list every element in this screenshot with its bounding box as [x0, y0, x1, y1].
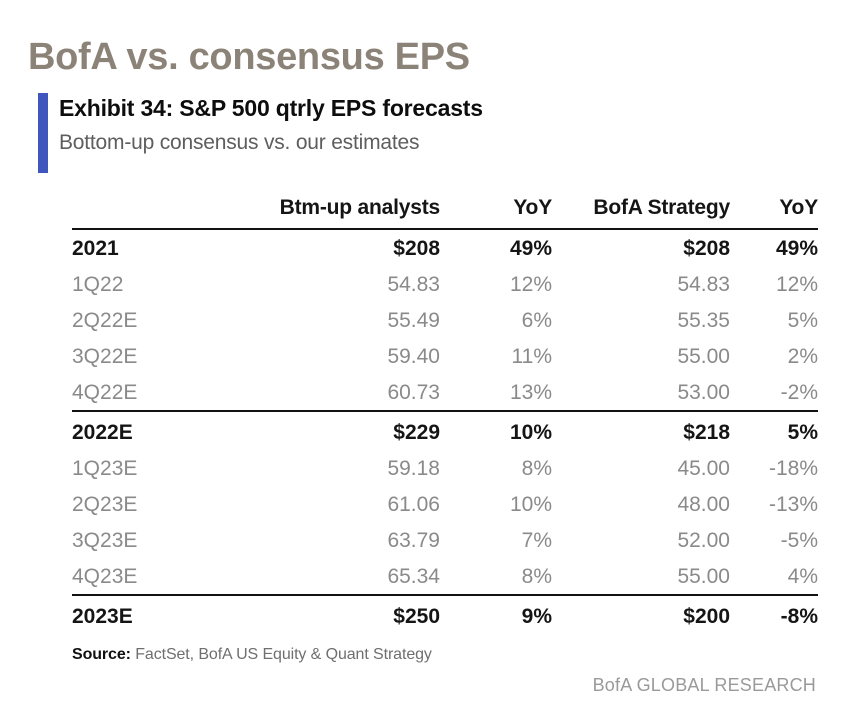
cell-yoy-btm-up: 8% [440, 558, 552, 595]
cell-btm-up: 63.79 [252, 522, 440, 558]
cell-btm-up: 59.40 [252, 338, 440, 374]
cell-period: 3Q22E [72, 338, 252, 374]
page-title: BofA vs. consensus EPS [28, 36, 470, 79]
cell-period: 2021 [72, 229, 252, 266]
cell-btm-up: $208 [252, 229, 440, 266]
cell-yoy-btm-up: 10% [440, 486, 552, 522]
table-row: 2Q22E55.496%55.355% [72, 302, 818, 338]
column-header-period [72, 190, 252, 229]
cell-bofa-strategy: 45.00 [552, 450, 730, 486]
cell-yoy-bofa: 2% [730, 338, 818, 374]
source-text: FactSet, BofA US Equity & Quant Strategy [131, 646, 432, 663]
table-row: 1Q23E59.188%45.00-18% [72, 450, 818, 486]
cell-yoy-bofa: -18% [730, 450, 818, 486]
exhibit-header: Exhibit 34: S&P 500 qtrly EPS forecasts … [38, 93, 818, 173]
column-header-btm-up: Btm-up analysts [252, 190, 440, 229]
cell-period: 2Q22E [72, 302, 252, 338]
cell-yoy-bofa: 5% [730, 411, 818, 450]
cell-bofa-strategy: 48.00 [552, 486, 730, 522]
table-row: 4Q22E60.7313%53.00-2% [72, 374, 818, 411]
cell-period: 3Q23E [72, 522, 252, 558]
cell-bofa-strategy: 52.00 [552, 522, 730, 558]
cell-yoy-btm-up: 11% [440, 338, 552, 374]
cell-yoy-btm-up: 6% [440, 302, 552, 338]
cell-yoy-btm-up: 9% [440, 595, 552, 634]
cell-yoy-bofa: -5% [730, 522, 818, 558]
cell-yoy-btm-up: 49% [440, 229, 552, 266]
cell-bofa-strategy: $200 [552, 595, 730, 634]
cell-btm-up: 55.49 [252, 302, 440, 338]
cell-yoy-bofa: -13% [730, 486, 818, 522]
column-header-yoy-btm: YoY [440, 190, 552, 229]
cell-yoy-btm-up: 8% [440, 450, 552, 486]
cell-bofa-strategy: 55.00 [552, 338, 730, 374]
cell-yoy-btm-up: 13% [440, 374, 552, 411]
cell-bofa-strategy: $218 [552, 411, 730, 450]
cell-period: 4Q23E [72, 558, 252, 595]
research-attribution: BofA GLOBAL RESEARCH [593, 675, 816, 696]
eps-forecast-table: Btm-up analysts YoY BofA Strategy YoY 20… [72, 190, 818, 634]
cell-btm-up: 65.34 [252, 558, 440, 595]
exhibit-title: Exhibit 34: S&P 500 qtrly EPS forecasts [59, 95, 483, 122]
cell-yoy-bofa: 49% [730, 229, 818, 266]
cell-yoy-btm-up: 10% [440, 411, 552, 450]
table-row: 2023E$2509%$200-8% [72, 595, 818, 634]
table-row: 4Q23E65.348%55.004% [72, 558, 818, 595]
cell-yoy-bofa: 4% [730, 558, 818, 595]
cell-period: 1Q22 [72, 266, 252, 302]
source-label: Source: [72, 646, 131, 663]
table-row: 2022E$22910%$2185% [72, 411, 818, 450]
cell-btm-up: 61.06 [252, 486, 440, 522]
cell-bofa-strategy: 54.83 [552, 266, 730, 302]
cell-bofa-strategy: 55.35 [552, 302, 730, 338]
cell-btm-up: 59.18 [252, 450, 440, 486]
accent-bar [38, 93, 48, 173]
exhibit-subtitle: Bottom-up consensus vs. our estimates [59, 131, 419, 155]
cell-period: 2Q23E [72, 486, 252, 522]
cell-yoy-btm-up: 12% [440, 266, 552, 302]
table-row: 1Q2254.8312%54.8312% [72, 266, 818, 302]
cell-period: 1Q23E [72, 450, 252, 486]
cell-period: 4Q22E [72, 374, 252, 411]
cell-bofa-strategy: 53.00 [552, 374, 730, 411]
table-row: 2Q23E61.0610%48.00-13% [72, 486, 818, 522]
cell-period: 2022E [72, 411, 252, 450]
cell-btm-up: 54.83 [252, 266, 440, 302]
column-header-yoy-bofa: YoY [730, 190, 818, 229]
cell-yoy-bofa: -2% [730, 374, 818, 411]
cell-yoy-bofa: -8% [730, 595, 818, 634]
table-row: 2021$20849%$20849% [72, 229, 818, 266]
cell-btm-up: $250 [252, 595, 440, 634]
cell-btm-up: 60.73 [252, 374, 440, 411]
column-header-bofa: BofA Strategy [552, 190, 730, 229]
cell-btm-up: $229 [252, 411, 440, 450]
table-row: 3Q23E63.797%52.00-5% [72, 522, 818, 558]
cell-yoy-bofa: 12% [730, 266, 818, 302]
cell-yoy-bofa: 5% [730, 302, 818, 338]
cell-bofa-strategy: 55.00 [552, 558, 730, 595]
source-note: Source: FactSet, BofA US Equity & Quant … [72, 646, 432, 664]
table-header-row: Btm-up analysts YoY BofA Strategy YoY [72, 190, 818, 229]
cell-bofa-strategy: $208 [552, 229, 730, 266]
cell-yoy-btm-up: 7% [440, 522, 552, 558]
table-row: 3Q22E59.4011%55.002% [72, 338, 818, 374]
cell-period: 2023E [72, 595, 252, 634]
